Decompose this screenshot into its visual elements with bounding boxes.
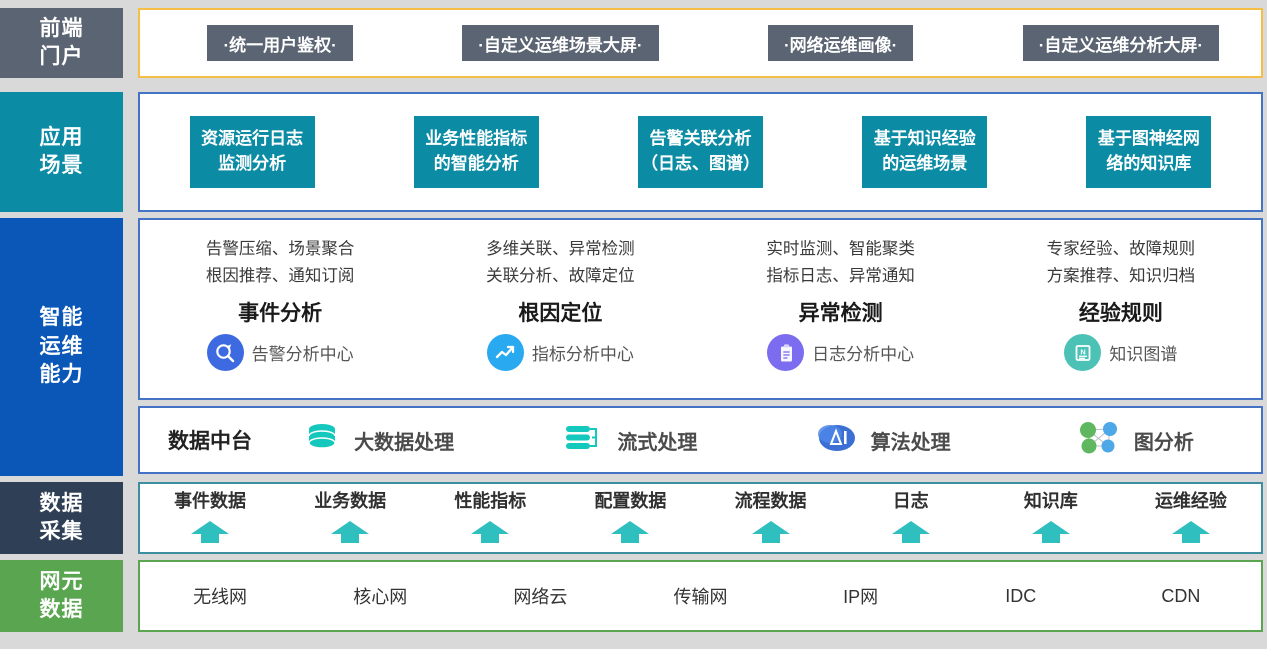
data-platform-item-graph[interactable]: 图分析	[1009, 420, 1261, 461]
app-card-line-2: 监测分析	[218, 152, 286, 177]
ne-rail-line-1: 网元	[40, 568, 84, 596]
app-card-alarm-correlation[interactable]: 告警关联分析 （日志、图谱）	[638, 116, 763, 188]
collection-label: 知识库	[1024, 487, 1078, 513]
collection-item-event-data[interactable]: 事件数据	[140, 484, 280, 552]
ai-icon	[815, 421, 859, 460]
portal-chip-slot: ·统一用户鉴权·	[140, 25, 420, 61]
front-portal-panel: ·统一用户鉴权· ·自定义运维场景大屏· ·网络运维画像· ·自定义运维分析大屏…	[138, 8, 1263, 78]
app-card-line-2: 的智能分析	[434, 152, 519, 177]
collection-label: 性能指标	[454, 487, 526, 513]
ne-item-core-network[interactable]: 核心网	[300, 583, 460, 609]
capability-title: 经验规则	[1079, 297, 1163, 327]
collection-label: 业务数据	[314, 487, 386, 513]
collection-label: 配置数据	[594, 487, 666, 513]
data-platform-item-algorithm[interactable]: 算法处理	[757, 421, 1009, 460]
app-card-slot: 业务性能指标 的智能分析	[364, 116, 588, 188]
portal-chip-slot: ·网络运维画像·	[701, 25, 981, 61]
app-card-knowledge-experience[interactable]: 基于知识经验 的运维场景	[862, 116, 987, 188]
ne-item-transport-network[interactable]: 传输网	[620, 583, 780, 609]
collection-item-business-data[interactable]: 业务数据	[280, 484, 420, 552]
ne-item-cdn[interactable]: CDN	[1101, 586, 1261, 607]
data-platform-items: 大数据处理 流式处理	[252, 420, 1261, 461]
ne-rail-line-2: 数据	[40, 596, 84, 624]
collection-item-knowledge-base[interactable]: 知识库	[981, 484, 1121, 552]
portal-chip-slot: ·自定义运维分析大屏·	[981, 25, 1261, 61]
aiops-capability-panel: 告警压缩、场景聚合 根因推荐、通知订阅 事件分析 告警分析中心	[138, 218, 1263, 400]
aiops-rail-line-1: 智能	[40, 304, 84, 332]
capability-line: 多维关联、异常检测	[486, 236, 635, 263]
aiops-rail-line-2: 运维	[40, 333, 84, 361]
capability-line: 实时监测、智能聚类	[766, 236, 915, 263]
data-platform-panel: 数据中台 大数据处理	[138, 406, 1263, 474]
app-card-line-2: 的运维场景	[882, 152, 967, 177]
knowledge-graph-icon: N	[1064, 334, 1101, 371]
data-platform-item-bigdata[interactable]: 大数据处理	[252, 421, 504, 460]
up-arrow-icon	[889, 520, 933, 549]
capability-line: 根因推荐、通知订阅	[206, 263, 355, 290]
front-portal-rail: 前端 门户	[0, 8, 123, 78]
ne-label: 网络云	[513, 583, 567, 609]
front-portal-row: 前端 门户 ·统一用户鉴权· ·自定义运维场景大屏· ·网络运维画像· ·自定义…	[0, 8, 1263, 78]
capability-center-label: 日志分析中心	[812, 340, 914, 365]
log-clipboard-icon	[767, 334, 804, 371]
capability-column-root-cause: 多维关联、异常检测 关联分析、故障定位 根因定位 指标分析中心	[420, 220, 700, 398]
capability-line: 告警压缩、场景聚合	[206, 236, 355, 263]
data-platform-label: 图分析	[1134, 426, 1194, 455]
data-collection-row: 数据 采集 事件数据 业务数据 性能指标	[0, 482, 1263, 554]
app-card-line-1: 资源运行日志	[201, 127, 303, 152]
collection-label: 事件数据	[174, 487, 246, 513]
ne-item-network-cloud[interactable]: 网络云	[460, 583, 620, 609]
app-card-business-performance[interactable]: 业务性能指标 的智能分析	[414, 116, 539, 188]
collection-item-ops-experience[interactable]: 运维经验	[1121, 484, 1261, 552]
up-arrow-icon	[749, 520, 793, 549]
app-card-line-1: 基于图神经网	[1098, 127, 1200, 152]
application-scenario-rail: 应用 场景	[0, 92, 123, 212]
capability-column-anomaly-detection: 实时监测、智能聚类 指标日志、异常通知 异常检测	[701, 220, 981, 398]
aiops-panels: 告警压缩、场景聚合 根因推荐、通知订阅 事件分析 告警分析中心	[138, 218, 1263, 476]
ne-label: IDC	[1005, 586, 1036, 607]
ne-label: IP网	[843, 583, 878, 609]
capability-line: 指标日志、异常通知	[766, 263, 915, 290]
app-card-line-1: 基于知识经验	[874, 127, 976, 152]
capability-title: 事件分析	[238, 297, 322, 327]
application-scenario-row: 应用 场景 资源运行日志 监测分析 业务性能指标 的智能分析 告警关联分析 （日…	[0, 92, 1263, 212]
ne-label: 传输网	[673, 583, 727, 609]
app-card-line-2: 络的知识库	[1106, 152, 1191, 177]
data-platform-label: 算法处理	[871, 426, 951, 455]
stream-icon	[563, 421, 605, 460]
application-scenario-panel: 资源运行日志 监测分析 业务性能指标 的智能分析 告警关联分析 （日志、图谱） …	[138, 92, 1263, 212]
up-arrow-icon	[608, 520, 652, 549]
data-platform-label: 大数据处理	[354, 426, 454, 455]
capability-title: 异常检测	[799, 297, 883, 327]
app-card-resource-log[interactable]: 资源运行日志 监测分析	[190, 116, 315, 188]
database-icon	[302, 421, 342, 460]
capability-center[interactable]: 日志分析中心	[767, 334, 914, 371]
app-card-slot: 告警关联分析 （日志、图谱）	[588, 116, 812, 188]
data-collection-rail: 数据 采集	[0, 482, 123, 554]
app-card-slot: 资源运行日志 监测分析	[140, 116, 364, 188]
app-card-slot: 基于图神经网 络的知识库	[1037, 116, 1261, 188]
up-arrow-icon	[188, 520, 232, 549]
alarm-search-icon	[207, 334, 244, 371]
up-arrow-icon	[1029, 520, 1073, 549]
collection-item-log[interactable]: 日志	[841, 484, 981, 552]
capability-center-label: 告警分析中心	[252, 340, 354, 365]
front-portal-rail-line-2: 门户	[40, 45, 84, 68]
capability-column-event-analysis: 告警压缩、场景聚合 根因推荐、通知订阅 事件分析 告警分析中心	[140, 220, 420, 398]
app-rail-line-2: 场景	[40, 152, 84, 180]
portal-chip-network-ops-portrait[interactable]: ·网络运维画像·	[768, 25, 913, 61]
data-platform-item-stream[interactable]: 流式处理	[504, 421, 756, 460]
app-card-line-1: 业务性能指标	[425, 127, 527, 152]
up-arrow-icon	[468, 520, 512, 549]
network-element-row: 网元 数据 无线网 核心网 网络云 传输网 IP网 IDC CDN	[0, 560, 1263, 632]
ne-item-ip-network[interactable]: IP网	[781, 583, 941, 609]
architecture-diagram: 前端 门户 ·统一用户鉴权· ·自定义运维场景大屏· ·网络运维画像· ·自定义…	[0, 0, 1267, 649]
svg-text:N: N	[1080, 347, 1085, 356]
ne-label: CDN	[1161, 586, 1200, 607]
app-rail-line-1: 应用	[40, 124, 84, 152]
capability-center[interactable]: 告警分析中心	[207, 334, 354, 371]
front-portal-rail-line-1: 前端	[40, 17, 84, 40]
capability-center-label: 指标分析中心	[532, 340, 634, 365]
graph-network-icon	[1076, 420, 1122, 461]
capability-line: 专家经验、故障规则	[1047, 236, 1196, 263]
capability-title: 根因定位	[518, 297, 602, 327]
network-element-rail: 网元 数据	[0, 560, 123, 632]
collection-item-process-data[interactable]: 流程数据	[701, 484, 841, 552]
portal-chip-custom-ops-analysis-screen[interactable]: ·自定义运维分析大屏·	[1023, 25, 1219, 61]
ne-label: 核心网	[353, 583, 407, 609]
data-platform-title: 数据中台	[168, 425, 252, 455]
ne-item-idc[interactable]: IDC	[941, 586, 1101, 607]
app-card-line-1: 告警关联分析	[650, 127, 752, 152]
collection-item-config-data[interactable]: 配置数据	[560, 484, 700, 552]
network-element-panel: 无线网 核心网 网络云 传输网 IP网 IDC CDN	[138, 560, 1263, 632]
capability-column-experience-rules: 专家经验、故障规则 方案推荐、知识归档 经验规则 N 知识图谱	[981, 220, 1261, 398]
collection-item-performance-metric[interactable]: 性能指标	[420, 484, 560, 552]
data-collection-panel: 事件数据 业务数据 性能指标 配置数据	[138, 482, 1263, 554]
up-arrow-icon	[1169, 520, 1213, 549]
collection-label: 流程数据	[735, 487, 807, 513]
ne-item-wireless[interactable]: 无线网	[140, 583, 300, 609]
capability-center[interactable]: 指标分析中心	[487, 334, 634, 371]
app-card-slot: 基于知识经验 的运维场景	[813, 116, 1037, 188]
aiops-rail-line-3: 能力	[40, 361, 84, 389]
app-card-line-2: （日志、图谱）	[641, 152, 760, 177]
up-arrow-icon	[328, 520, 372, 549]
aiops-capability-rail: 智能 运维 能力	[0, 218, 123, 476]
portal-chip-slot: ·自定义运维场景大屏·	[420, 25, 700, 61]
data-platform-label: 流式处理	[617, 426, 697, 455]
capability-center[interactable]: N 知识图谱	[1064, 334, 1177, 371]
app-card-graph-neural-knowledge[interactable]: 基于图神经网 络的知识库	[1086, 116, 1211, 188]
capability-center-label: 知识图谱	[1109, 340, 1177, 365]
aiops-capability-row: 智能 运维 能力 告警压缩、场景聚合 根因推荐、通知订阅 事件分析	[0, 218, 1263, 476]
metric-trend-icon	[487, 334, 524, 371]
capability-line: 关联分析、故障定位	[486, 263, 635, 290]
collection-rail-line-1: 数据	[40, 490, 84, 518]
collection-label: 日志	[893, 487, 929, 513]
capability-line: 方案推荐、知识归档	[1047, 263, 1196, 290]
collection-label: 运维经验	[1155, 487, 1227, 513]
collection-rail-line-2: 采集	[40, 518, 84, 546]
portal-chip-custom-ops-scene-screen[interactable]: ·自定义运维场景大屏·	[462, 25, 658, 61]
ne-label: 无线网	[193, 583, 247, 609]
portal-chip-unified-auth[interactable]: ·统一用户鉴权·	[207, 25, 352, 61]
